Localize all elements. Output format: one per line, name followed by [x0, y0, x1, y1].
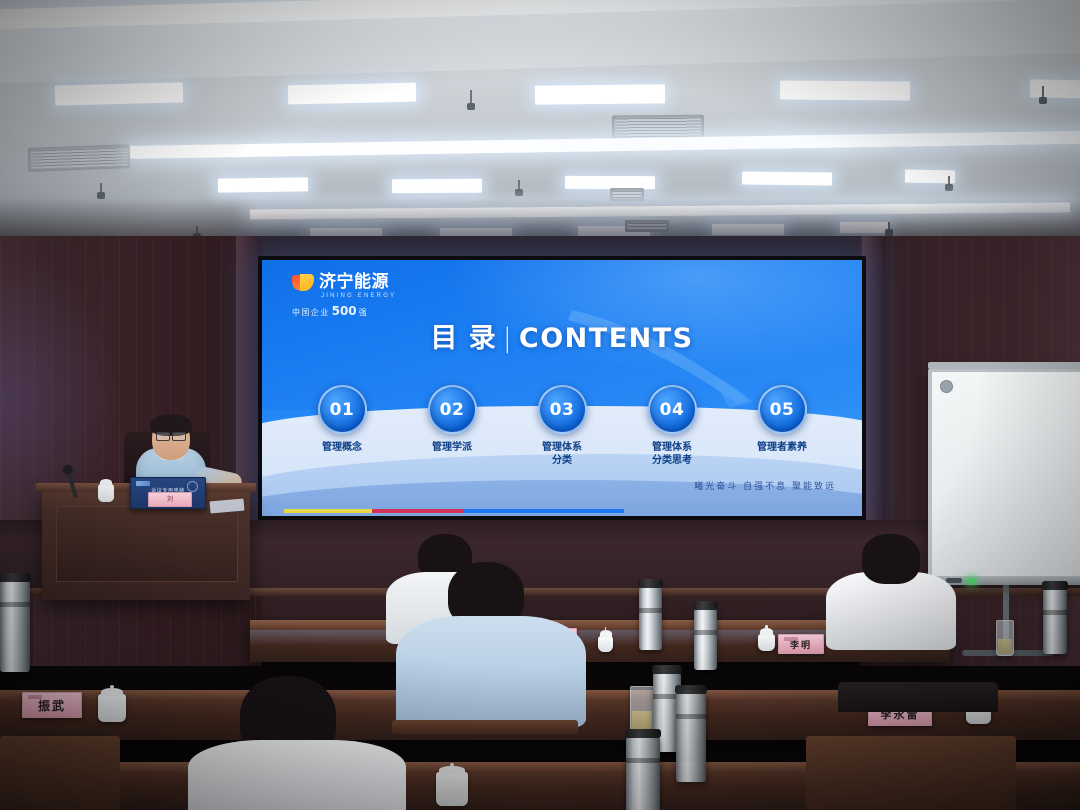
speaker-desk-plate: 刘 [148, 492, 192, 507]
ceiling-light-panel [392, 179, 482, 194]
contents-number-circle: 03 [538, 385, 587, 434]
attendee-torso [396, 616, 586, 728]
ceiling-light-panel [55, 82, 183, 105]
power-led-icon [968, 579, 975, 583]
slide-title-en: CONTENTS [519, 323, 694, 354]
contents-label: 管理体系 分类 [521, 442, 603, 467]
thermos-flask [676, 692, 706, 782]
contents-number-circle: 05 [758, 385, 807, 434]
contents-label: 管理体系 分类思考 [631, 442, 713, 467]
tea-cup [98, 694, 126, 722]
ceiling-light-panel [780, 81, 910, 101]
contents-label: 管理概念 [301, 442, 383, 455]
ceiling-light-panel [535, 84, 665, 104]
nameplate: 振武 [22, 692, 82, 718]
color-bar-yellow [284, 509, 372, 513]
tea-cup [758, 634, 775, 651]
nameplate-text: 李明 [790, 638, 812, 651]
contents-number: 01 [330, 400, 355, 420]
speaker-desk-plate-text: 刘 [149, 493, 191, 506]
contents-number: 04 [660, 400, 685, 420]
glass-jar [630, 686, 654, 734]
nameplate-text: 振武 [38, 697, 66, 714]
tea-cup [436, 772, 468, 806]
podium-front-panel [56, 506, 238, 582]
thermos-flask [1043, 588, 1067, 654]
presentation-slide: 济宁能源 JINING ENERGY 中国企业 500 强 目 录|CONTEN… [262, 260, 862, 516]
ceiling-hanger [948, 176, 950, 191]
glasses-icon [156, 432, 186, 439]
slide-title-cn: 目 录 [430, 323, 496, 354]
ceiling-light-panel [218, 177, 308, 192]
contents-label: 管理学派 [411, 442, 493, 455]
slide-contents-list: 01 管理概念 02 管理学派 03 管理体系 分类 04 管理体系 分类思考 … [262, 385, 862, 467]
contents-number-circle: 02 [428, 385, 477, 434]
company-logo: 济宁能源 JINING ENERGY 中国企业 500 强 [292, 274, 396, 318]
thermos-flask [639, 586, 662, 650]
slide-title: 目 录|CONTENTS [262, 316, 862, 355]
company-name-en: JINING ENERGY [321, 293, 396, 299]
ceiling-light-panel [1030, 79, 1080, 98]
jining-energy-logo-icon [292, 274, 314, 291]
company-name-cn: 济宁能源 [319, 274, 389, 291]
contents-label: 管理者素养 [741, 442, 823, 455]
glass-jar [996, 620, 1014, 656]
conference-room-photo: 济宁能源 JINING ENERGY 中国企业 500 强 目 录|CONTEN… [0, 0, 1080, 810]
whiteboard-sensor [946, 578, 962, 583]
contents-item: 05 管理者素养 [741, 385, 823, 467]
slide-color-bar [284, 509, 624, 513]
ceiling-hanger [470, 90, 472, 110]
attendee-torso [188, 740, 406, 810]
ceiling-hanger [1042, 86, 1044, 104]
tea-cup [98, 484, 114, 502]
contents-number-circle: 01 [318, 385, 367, 434]
ceiling [0, 0, 1080, 258]
ceiling-hanger [100, 183, 102, 199]
slide-title-separator: | [503, 323, 513, 354]
whiteboard[interactable] [928, 368, 1080, 580]
thermos-flask [626, 736, 660, 810]
air-vent-icon [28, 144, 131, 172]
color-bar-red [372, 509, 464, 513]
contents-number: 03 [550, 400, 575, 420]
color-bar-blue [464, 509, 624, 513]
chair-back [838, 682, 998, 712]
laptop-logo-icon [136, 481, 150, 486]
contents-number-circle: 04 [648, 385, 697, 434]
ceiling-light-panel [742, 172, 832, 186]
contents-item: 03 管理体系 分类 [521, 385, 603, 467]
chair-frame [0, 736, 120, 810]
chair-frame [806, 736, 1016, 810]
contents-item: 04 管理体系 分类思考 [631, 385, 713, 467]
thermos-flask [0, 580, 30, 672]
thermos-flask [694, 608, 717, 670]
contents-item: 01 管理概念 [301, 385, 383, 467]
whiteboard-top-rail [928, 362, 1080, 369]
contents-item: 02 管理学派 [411, 385, 493, 467]
attendee-head [862, 534, 920, 584]
contents-number: 05 [770, 400, 795, 420]
whiteboard-knob-icon [940, 380, 953, 393]
ceiling-light-panel [288, 83, 416, 105]
cove-light-strip-2 [130, 130, 1080, 159]
contents-number: 02 [440, 400, 465, 420]
nameplate: 李明 [778, 634, 824, 654]
tea-cup [598, 636, 613, 652]
ceiling-hanger [518, 180, 520, 196]
chair-frame [392, 720, 578, 734]
slide-calligraphy-slogan: 曦光奋斗 自强不息 聚能致远 [694, 479, 836, 492]
